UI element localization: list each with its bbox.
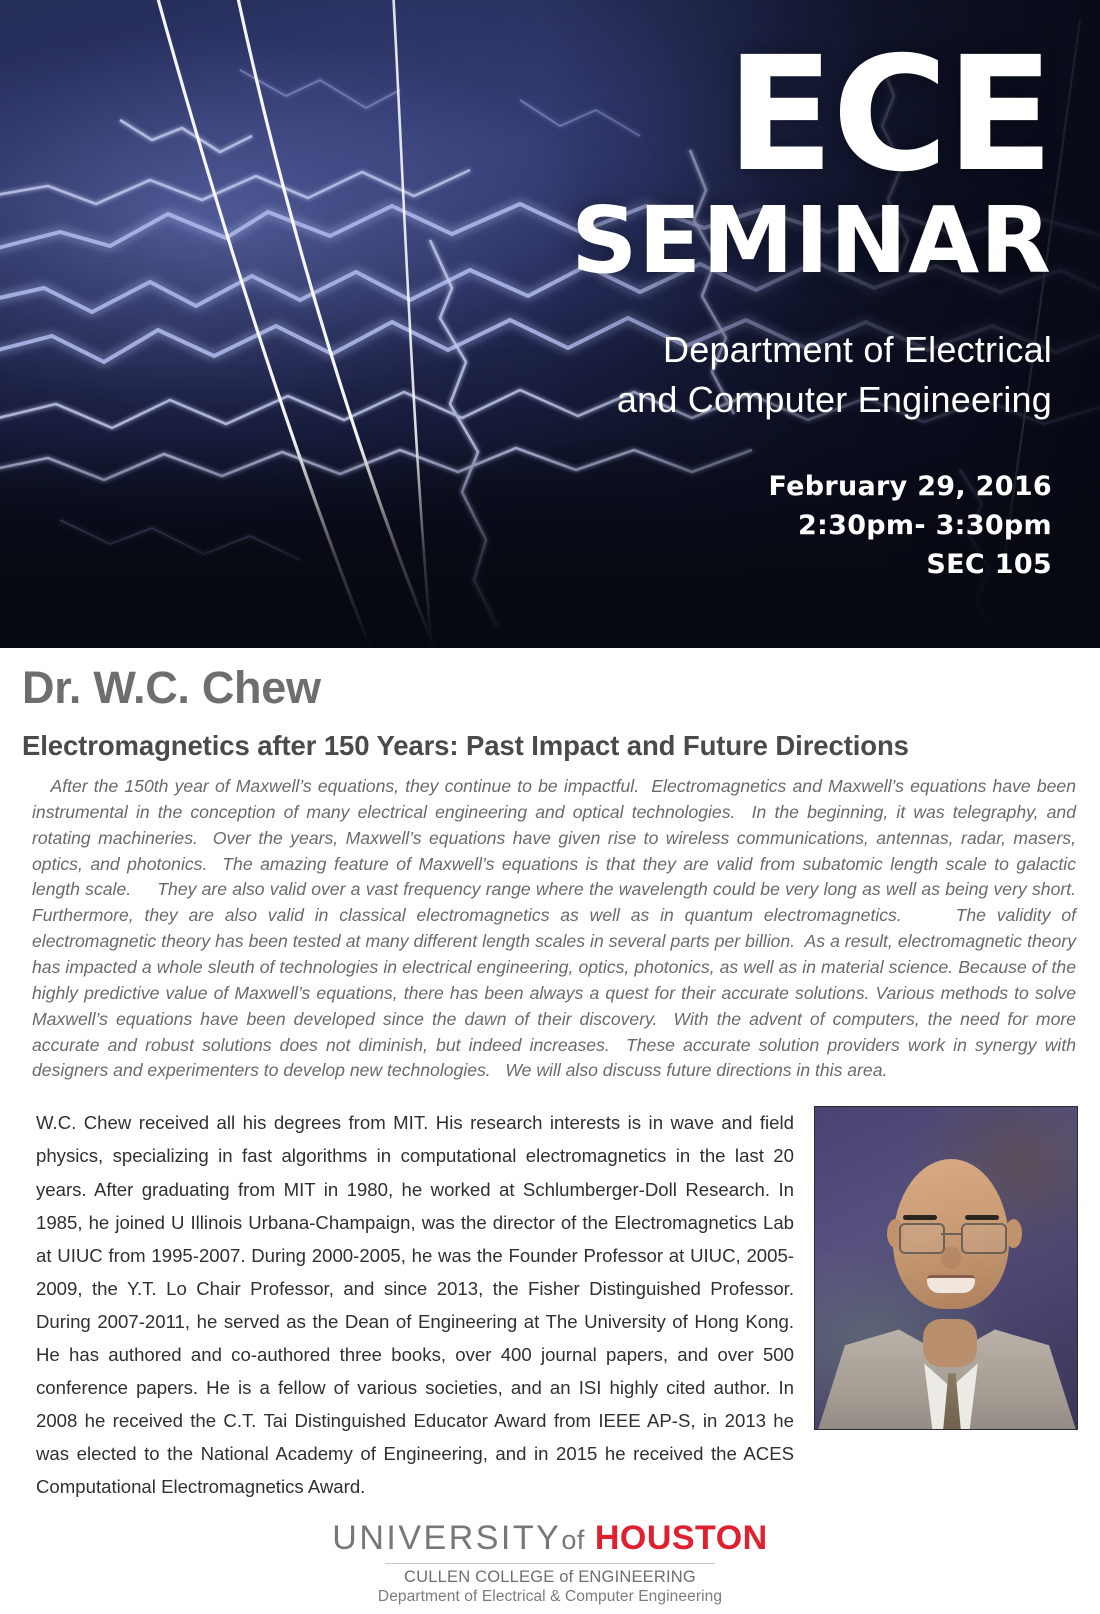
photo-eyeglass-right xyxy=(961,1223,1007,1254)
event-details-block: February 29, 2016 2:30pm- 3:30pm SEC 105 xyxy=(412,468,1052,585)
department-line-2: and Computer Engineering xyxy=(412,375,1052,425)
uh-logo-of: of xyxy=(561,1525,585,1555)
college-name: CULLEN COLLEGE of ENGINEERING xyxy=(22,1568,1078,1587)
ece-title: ECE xyxy=(412,46,1052,185)
seminar-title: SEMINAR xyxy=(412,195,1052,287)
talk-abstract: After the 150th year of Maxwell’s equati… xyxy=(22,774,1078,1084)
department-line: Department of Electrical and Computer En… xyxy=(412,325,1052,424)
speaker-name: Dr. W.C. Chew xyxy=(22,662,1078,714)
talk-title: Electromagnetics after 150 Years: Past I… xyxy=(22,730,1078,762)
photo-mouth xyxy=(927,1275,975,1293)
event-time: 2:30pm- 3:30pm xyxy=(412,507,1052,546)
uh-logo: UNIVERSITYof HOUSTON xyxy=(332,1519,767,1558)
speaker-photo xyxy=(814,1106,1078,1430)
department-name: Department of Electrical & Computer Engi… xyxy=(22,1588,1078,1606)
uh-logo-houston: HOUSTON xyxy=(595,1519,768,1557)
university-footer: UNIVERSITYof HOUSTON CULLEN COLLEGE of E… xyxy=(22,1519,1078,1614)
photo-eyebrow-right xyxy=(965,1215,999,1220)
uh-logo-university: UNIVERSITY xyxy=(332,1519,561,1557)
event-location: SEC 105 xyxy=(412,546,1052,585)
event-date: February 29, 2016 xyxy=(412,468,1052,507)
department-line-1: Department of Electrical xyxy=(412,325,1052,375)
poster-body: Dr. W.C. Chew Electromagnetics after 150… xyxy=(0,662,1100,1614)
speaker-biography: W.C. Chew received all his degrees from … xyxy=(36,1106,814,1503)
biography-row: W.C. Chew received all his degrees from … xyxy=(22,1106,1078,1503)
photo-eyebrow-left xyxy=(903,1215,937,1220)
photo-eyeglass-bridge xyxy=(941,1233,961,1235)
photo-neck xyxy=(923,1319,977,1367)
header-text-block: ECE SEMINAR Department of Electrical and… xyxy=(412,46,1052,585)
photo-eyeglass-left xyxy=(899,1223,945,1254)
poster-header: ECE SEMINAR Department of Electrical and… xyxy=(0,0,1100,648)
uh-logo-divider xyxy=(385,1563,715,1564)
